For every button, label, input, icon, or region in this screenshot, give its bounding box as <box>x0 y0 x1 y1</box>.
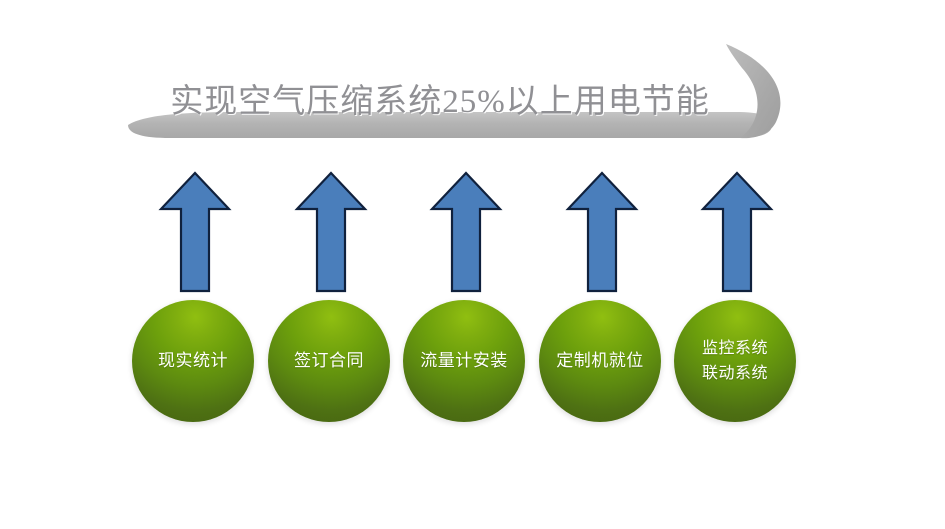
process-node-1[interactable]: 现实统计 <box>132 300 254 422</box>
up-arrow-icon <box>565 170 639 294</box>
page-title: 实现空气压缩系统25%以上用电节能 <box>150 74 730 122</box>
up-arrow-icon <box>158 170 232 294</box>
up-arrow-icon-5 <box>700 170 774 294</box>
process-node-3[interactable]: 流量计安装 <box>403 300 525 422</box>
process-node-label: 签订合同 <box>290 349 368 373</box>
up-arrow-icon-3 <box>429 170 503 294</box>
up-arrow-icon <box>429 170 503 294</box>
process-node-label: 现实统计 <box>154 349 232 373</box>
up-arrow-icon-2 <box>294 170 368 294</box>
process-node-label: 监控系统 联动系统 <box>698 336 772 386</box>
process-node-label: 定制机就位 <box>552 349 648 373</box>
process-node-label: 流量计安装 <box>416 349 512 373</box>
up-arrow-icon-4 <box>565 170 639 294</box>
process-node-5[interactable]: 监控系统 联动系统 <box>674 300 796 422</box>
up-arrow-icon <box>294 170 368 294</box>
up-arrow-icon-1 <box>158 170 232 294</box>
process-node-2[interactable]: 签订合同 <box>268 300 390 422</box>
up-arrow-icon <box>700 170 774 294</box>
title-banner: 实现空气压缩系统25%以上用电节能 <box>0 30 945 140</box>
slide-canvas: 实现空气压缩系统25%以上用电节能 现实统计 签订合同 流量计安装 定制机 <box>0 0 945 529</box>
process-node-4[interactable]: 定制机就位 <box>539 300 661 422</box>
